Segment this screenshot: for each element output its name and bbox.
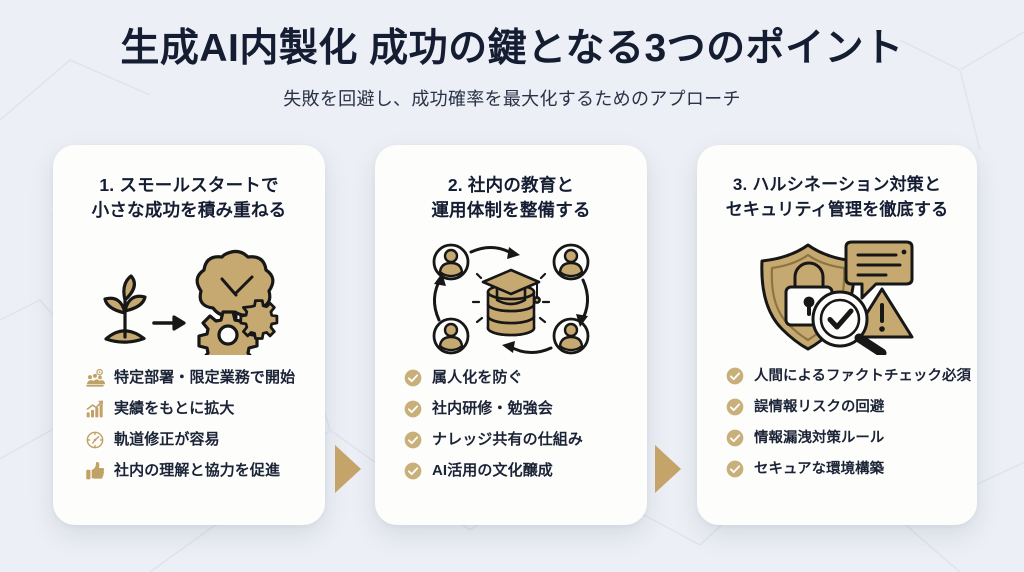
list-item: 社内の理解と協力を促進 <box>71 461 307 481</box>
card-2-title: 2. 社内の教育と 運用体制を整備する <box>431 173 590 224</box>
list-item-label: AI活用の文化醸成 <box>432 462 553 480</box>
check-circle-icon <box>725 459 745 479</box>
people-around-knowledge-base-with-graduation-cap-icon <box>393 240 629 358</box>
list-item-label: 社内の理解と協力を促進 <box>114 462 280 480</box>
list-item-label: 誤情報リスクの回避 <box>754 399 884 416</box>
seedling-to-tree-with-gears-icon <box>71 240 307 358</box>
check-circle-icon <box>725 428 745 448</box>
card-step-3[interactable]: 3. ハルシネーション対策と セキュリティ管理を徹底する <box>697 145 977 525</box>
list-item: 特定部署・限定業務で開始 <box>71 368 307 388</box>
thumbs-up-icon <box>85 461 105 481</box>
card-step-1[interactable]: 1. スモールスタートで 小さな成功を積み重ねる <box>53 145 325 525</box>
card-step-2[interactable]: 2. 社内の教育と 運用体制を整備する <box>375 145 647 525</box>
check-circle-icon <box>403 399 423 419</box>
page-title: 生成AI内製化 成功の鍵となる3つのポイント <box>0 28 1024 71</box>
list-item: AI活用の文化醸成 <box>393 461 629 481</box>
list-item-label: セキュアな環境構築 <box>754 461 884 478</box>
page-subtitle: 失敗を回避し、成功確率を最大化するためのアプローチ <box>0 85 1024 111</box>
check-circle-icon <box>725 397 745 417</box>
check-circle-icon <box>725 366 745 386</box>
card-3-bullets: 人間によるファクトチェック必須 誤情報リスクの回避 情報漏洩対策ルール <box>715 366 959 490</box>
cards-container: 1. スモールスタートで 小さな成功を積み重ねる <box>0 145 1024 527</box>
shield-lock-magnifier-warning-icon <box>715 238 959 356</box>
list-item: ナレッジ共有の仕組み <box>393 430 629 450</box>
bar-chart-growth-icon <box>85 399 105 419</box>
check-circle-icon <box>403 430 423 450</box>
card-1-bullets: 特定部署・限定業務で開始 実績をもとに拡大 <box>71 368 307 492</box>
list-item: 人間によるファクトチェック必須 <box>715 366 959 386</box>
list-item-label: 社内研修・勉強会 <box>432 400 553 418</box>
check-circle-icon <box>403 461 423 481</box>
check-circle-icon <box>403 368 423 388</box>
slide-header: 生成AI内製化 成功の鍵となる3つのポイント 失敗を回避し、成功確率を最大化する… <box>0 0 1024 111</box>
speedometer-icon <box>85 430 105 450</box>
list-item-label: 特定部署・限定業務で開始 <box>114 369 295 387</box>
list-item: 軌道修正が容易 <box>71 430 307 450</box>
arrow-connector-1 <box>335 445 361 493</box>
arrow-connector-2 <box>655 445 681 493</box>
list-item-label: 人間によるファクトチェック必須 <box>754 368 971 385</box>
slide-root: 生成AI内製化 成功の鍵となる3つのポイント 失敗を回避し、成功確率を最大化する… <box>0 0 1024 572</box>
team-target-icon <box>85 368 105 388</box>
list-item-label: ナレッジ共有の仕組み <box>432 431 583 449</box>
card-1-title: 1. スモールスタートで 小さな成功を積み重ねる <box>92 173 287 224</box>
list-item-label: 属人化を防ぐ <box>432 369 523 387</box>
list-item-label: 実績をもとに拡大 <box>114 400 235 418</box>
list-item: 実績をもとに拡大 <box>71 399 307 419</box>
card-2-bullets: 属人化を防ぐ 社内研修・勉強会 ナレッジ共有の仕組み <box>393 368 629 492</box>
list-item: 属人化を防ぐ <box>393 368 629 388</box>
list-item: 社内研修・勉強会 <box>393 399 629 419</box>
list-item: 情報漏洩対策ルール <box>715 428 959 448</box>
list-item: 誤情報リスクの回避 <box>715 397 959 417</box>
list-item: セキュアな環境構築 <box>715 459 959 479</box>
list-item-label: 情報漏洩対策ルール <box>754 430 884 447</box>
card-3-title: 3. ハルシネーション対策と セキュリティ管理を徹底する <box>726 173 949 222</box>
list-item-label: 軌道修正が容易 <box>114 431 220 449</box>
